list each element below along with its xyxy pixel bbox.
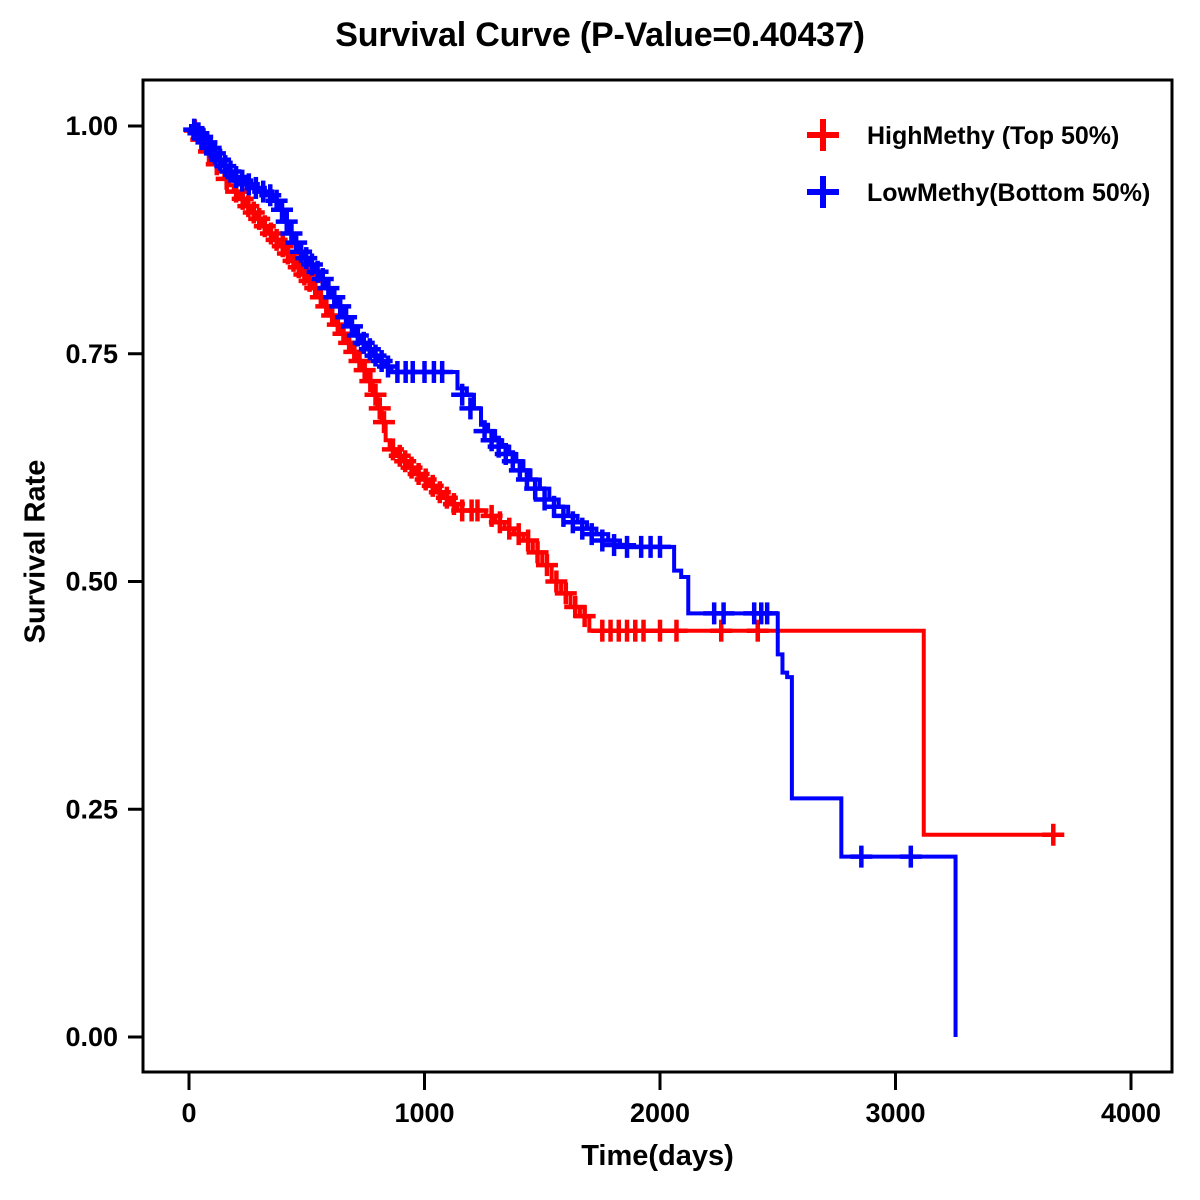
y-tick-label: 0.00 <box>65 1022 118 1052</box>
x-tick-label: 3000 <box>865 1098 925 1128</box>
censor-plus-marker <box>373 411 395 433</box>
censor-plus-marker <box>850 846 872 868</box>
x-axis-ticks: 01000200030004000 <box>181 1072 1161 1128</box>
legend-item-high-methy[interactable]: HighMethy (Top 50%) <box>807 119 1119 151</box>
y-tick-label: 0.75 <box>65 339 118 369</box>
plot-frame <box>143 80 1172 1072</box>
y-tick-label: 0.50 <box>65 567 118 597</box>
legend-label: HighMethy (Top 50%) <box>867 122 1119 150</box>
series-high-methy <box>184 120 1064 846</box>
y-tick-label: 1.00 <box>65 111 118 141</box>
plot-canvas: 0.000.250.500.751.00 01000200030004000 H… <box>0 0 1200 1200</box>
legend-item-low-methy[interactable]: LowMethy(Bottom 50%) <box>807 176 1150 208</box>
x-tick-label: 0 <box>181 1098 196 1128</box>
censor-plus-marker <box>1042 824 1064 846</box>
x-tick-label: 1000 <box>394 1098 454 1128</box>
censor-plus-marker <box>369 397 391 419</box>
y-axis-ticks: 0.000.250.500.751.00 <box>65 111 143 1052</box>
step-line <box>189 126 1053 835</box>
survival-curve-figure: Survival Curve (P-Value=0.40437) Surviva… <box>0 0 1200 1200</box>
series-low-methy <box>183 119 955 1037</box>
censor-plus-marker <box>276 211 298 233</box>
x-tick-label: 4000 <box>1101 1098 1161 1128</box>
censor-plus-marker <box>365 384 387 406</box>
censor-plus-marker <box>900 846 922 868</box>
x-tick-label: 2000 <box>630 1098 690 1128</box>
chart-legend: HighMethy (Top 50%)LowMethy(Bottom 50%) <box>807 119 1150 208</box>
y-tick-label: 0.25 <box>65 794 118 824</box>
censor-plus-marker <box>665 620 687 642</box>
series-layer <box>183 119 1064 1037</box>
legend-label: LowMethy(Bottom 50%) <box>867 179 1150 207</box>
